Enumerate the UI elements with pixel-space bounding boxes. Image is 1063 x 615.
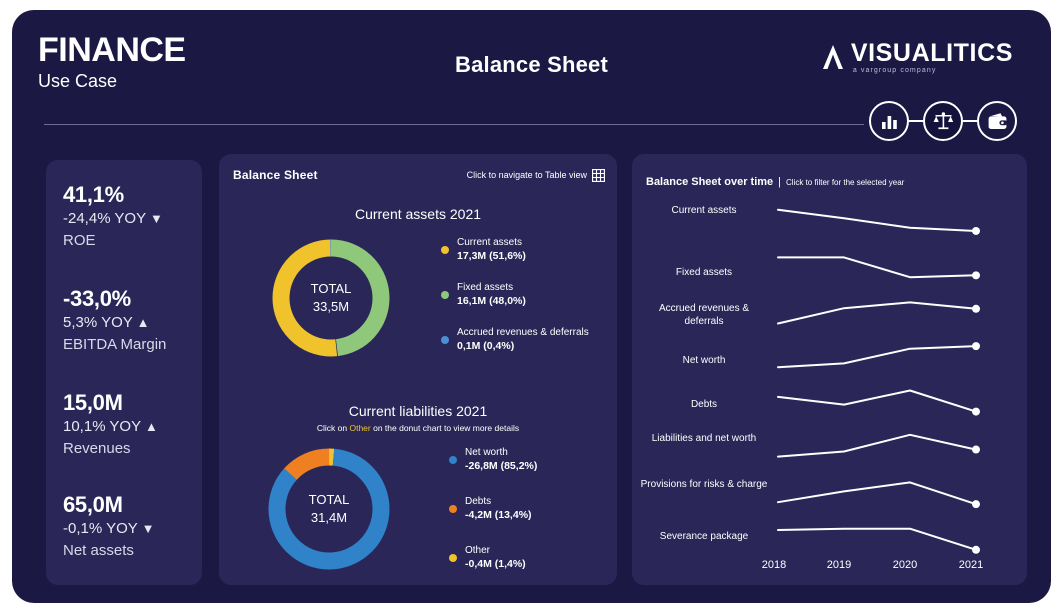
wallet-icon[interactable]: [977, 101, 1017, 141]
donut-center-text: TOTAL 31,4M: [262, 442, 396, 576]
legend-label: Fixed assets: [457, 281, 611, 294]
sparkline-path: [778, 529, 976, 550]
sparkline-path: [778, 482, 976, 504]
sparkline-endpoint-dot[interactable]: [972, 408, 980, 416]
kpi-delta-text: 10,1% YOY: [63, 418, 141, 435]
series-label-provisions[interactable]: Provisions for risks & charge: [640, 478, 768, 491]
series-label-fixed-assets[interactable]: Fixed assets: [640, 266, 768, 279]
axis-tick-2021[interactable]: 2021: [941, 559, 1001, 571]
icon-connector: [963, 120, 977, 122]
visualitics-mark-icon: [822, 44, 844, 70]
filter-hint-label[interactable]: Click to filter for the selected year: [786, 178, 904, 187]
balance-sheet-panel-header: Balance Sheet Click to navigate to Table…: [233, 168, 605, 182]
legend-item[interactable]: Accrued revenues & deferrals 0,1M (0,4%): [441, 326, 611, 353]
title-separator: |: [778, 176, 781, 188]
company-logo: VISUALITICS a vargroup company: [822, 40, 1013, 74]
donut-total-value: 31,4M: [311, 509, 347, 527]
legend-color-swatch: [449, 505, 457, 513]
kpi-value: 41,1%: [63, 182, 203, 208]
subtitle-pre: Click on: [317, 423, 350, 433]
header-icon-row: [869, 101, 1017, 141]
grid-table-icon: [592, 169, 605, 182]
sparkline-endpoint-dot[interactable]: [972, 546, 980, 554]
current-assets-donut-chart[interactable]: TOTAL 33,5M: [267, 234, 395, 362]
dashboard-board: FINANCE Use Case Balance Sheet VISUALITI…: [12, 10, 1051, 603]
kpi-label: ROE: [63, 230, 203, 252]
balance-sheet-panel: Balance Sheet Click to navigate to Table…: [219, 154, 617, 585]
series-label-severance[interactable]: Severance package: [640, 530, 768, 543]
bar-chart-icon[interactable]: [869, 101, 909, 141]
kpi-delta-text: 5,3% YOY: [63, 314, 133, 331]
kpi-card-roe[interactable]: 41,1% -24,4% YOY ▼ ROE: [63, 182, 203, 252]
legend-color-swatch: [449, 456, 457, 464]
sparkline-path: [778, 257, 976, 277]
current-liabilities-chart-title: Current liabilities 2021: [219, 403, 617, 419]
donut-center-text: TOTAL 33,5M: [267, 234, 395, 362]
dashboard-header: FINANCE Use Case Balance Sheet VISUALITI…: [12, 10, 1051, 138]
kpi-card-net-assets[interactable]: 65,0M -0,1% YOY ▼ Net assets: [63, 492, 203, 562]
donut-total-label: TOTAL: [311, 280, 352, 298]
current-liabilities-legend: Net worth -26,8M (85,2%) Debts -4,2M (13…: [449, 446, 614, 571]
legend-label: Net worth: [465, 446, 614, 459]
kpi-value: -33,0%: [63, 286, 203, 312]
legend-label: Debts: [465, 495, 614, 508]
navigate-to-table-view-button[interactable]: Click to navigate to Table view: [467, 169, 605, 182]
panel-title: Balance Sheet over time: [646, 176, 773, 188]
kpi-delta: -0,1% YOY ▼: [63, 518, 203, 540]
kpi-delta-text: -24,4% YOY: [63, 210, 146, 227]
kpi-card-revenues[interactable]: 15,0M 10,1% YOY ▲ Revenues: [63, 390, 203, 460]
legend-item[interactable]: Current assets 17,3M (51,6%): [441, 236, 611, 263]
kpi-card-ebitda-margin[interactable]: -33,0% 5,3% YOY ▲ EBITDA Margin: [63, 286, 203, 356]
sparkline-endpoint-dot[interactable]: [972, 227, 980, 235]
legend-value: -4,2M (13,4%): [465, 508, 614, 522]
balance-scale-icon[interactable]: [923, 101, 963, 141]
legend-value: 17,3M (51,6%): [457, 249, 611, 263]
kpi-label: Net assets: [63, 540, 203, 562]
kpi-trend-up-icon: ▲: [145, 419, 158, 434]
axis-tick-2018[interactable]: 2018: [744, 559, 804, 571]
logo-text-block: VISUALITICS a vargroup company: [851, 40, 1013, 74]
subtitle-highlight: Other: [349, 423, 370, 433]
legend-value: 16,1M (48,0%): [457, 294, 611, 308]
kpi-trend-down-icon: ▼: [150, 211, 163, 226]
current-assets-chart-title: Current assets 2021: [219, 206, 617, 222]
sparkline-endpoint-dot[interactable]: [972, 271, 980, 279]
current-liabilities-chart-subtitle: Click on Other on the donut chart to vie…: [219, 423, 617, 433]
kpi-value: 15,0M: [63, 390, 203, 416]
legend-color-swatch: [441, 246, 449, 254]
kpi-label: Revenues: [63, 438, 203, 460]
header-divider: [44, 124, 864, 125]
kpi-delta: -24,4% YOY ▼: [63, 208, 203, 230]
sparkline-path: [778, 210, 976, 231]
legend-label: Current assets: [457, 236, 611, 249]
legend-label: Accrued revenues & deferrals: [457, 326, 611, 339]
legend-value: -26,8M (85,2%): [465, 459, 614, 473]
sparkline-path: [778, 346, 976, 367]
sparkline-path: [778, 302, 976, 323]
series-label-net-worth[interactable]: Net worth: [640, 354, 768, 367]
legend-value: 0,1M (0,4%): [457, 339, 611, 353]
legend-item[interactable]: Other -0,4M (1,4%): [449, 544, 614, 571]
legend-item[interactable]: Net worth -26,8M (85,2%): [449, 446, 614, 473]
logo-wordmark: VISUALITICS: [851, 40, 1013, 66]
current-liabilities-donut-chart[interactable]: TOTAL 31,4M: [262, 442, 396, 576]
subtitle-post: on the donut chart to view more details: [371, 423, 519, 433]
kpi-delta: 10,1% YOY ▲: [63, 416, 203, 438]
series-label-current-assets[interactable]: Current assets: [640, 204, 768, 217]
donut-total-value: 33,5M: [313, 298, 349, 316]
current-assets-legend: Current assets 17,3M (51,6%) Fixed asset…: [441, 236, 611, 353]
time-panel-header: Balance Sheet over time | Click to filte…: [646, 176, 904, 188]
series-label-debts[interactable]: Debts: [640, 398, 768, 411]
kpi-label: EBITDA Margin: [63, 334, 203, 356]
kpi-trend-up-icon: ▲: [137, 315, 150, 330]
balance-sheet-over-time-panel: Balance Sheet over time | Click to filte…: [632, 154, 1027, 585]
sparkline-chart[interactable]: [772, 202, 1020, 562]
donut-total-label: TOTAL: [309, 491, 350, 509]
sparkline-endpoint-dot[interactable]: [972, 446, 980, 454]
legend-label: Other: [465, 544, 614, 557]
axis-tick-2020[interactable]: 2020: [875, 559, 935, 571]
icon-connector: [909, 120, 923, 122]
axis-tick-2019[interactable]: 2019: [809, 559, 869, 571]
legend-color-swatch: [449, 554, 457, 562]
legend-item[interactable]: Debts -4,2M (13,4%): [449, 495, 614, 522]
legend-item[interactable]: Fixed assets 16,1M (48,0%): [441, 281, 611, 308]
sparkline-endpoint-dot[interactable]: [972, 342, 980, 350]
logo-tagline: a vargroup company: [853, 67, 937, 74]
table-view-label: Click to navigate to Table view: [467, 170, 587, 180]
panel-title: Balance Sheet: [233, 168, 318, 182]
legend-color-swatch: [441, 336, 449, 344]
legend-value: -0,4M (1,4%): [465, 557, 614, 571]
kpi-panel: 41,1% -24,4% YOY ▼ ROE -33,0% 5,3% YOY ▲…: [46, 160, 202, 585]
sparkline-path: [778, 435, 976, 457]
sparkline-path: [778, 391, 976, 412]
sparkline-endpoint-dot[interactable]: [972, 500, 980, 508]
series-label-accrued-revenues[interactable]: Accrued revenues & deferrals: [640, 302, 768, 328]
series-label-liabilities-net-worth[interactable]: Liabilities and net worth: [640, 432, 768, 445]
sparkline-endpoint-dot[interactable]: [972, 305, 980, 313]
kpi-trend-down-icon: ▼: [142, 521, 155, 536]
kpi-value: 65,0M: [63, 492, 203, 518]
kpi-delta-text: -0,1% YOY: [63, 520, 138, 537]
kpi-delta: 5,3% YOY ▲: [63, 312, 203, 334]
legend-color-swatch: [441, 291, 449, 299]
dashboard-page: FINANCE Use Case Balance Sheet VISUALITI…: [0, 0, 1063, 615]
